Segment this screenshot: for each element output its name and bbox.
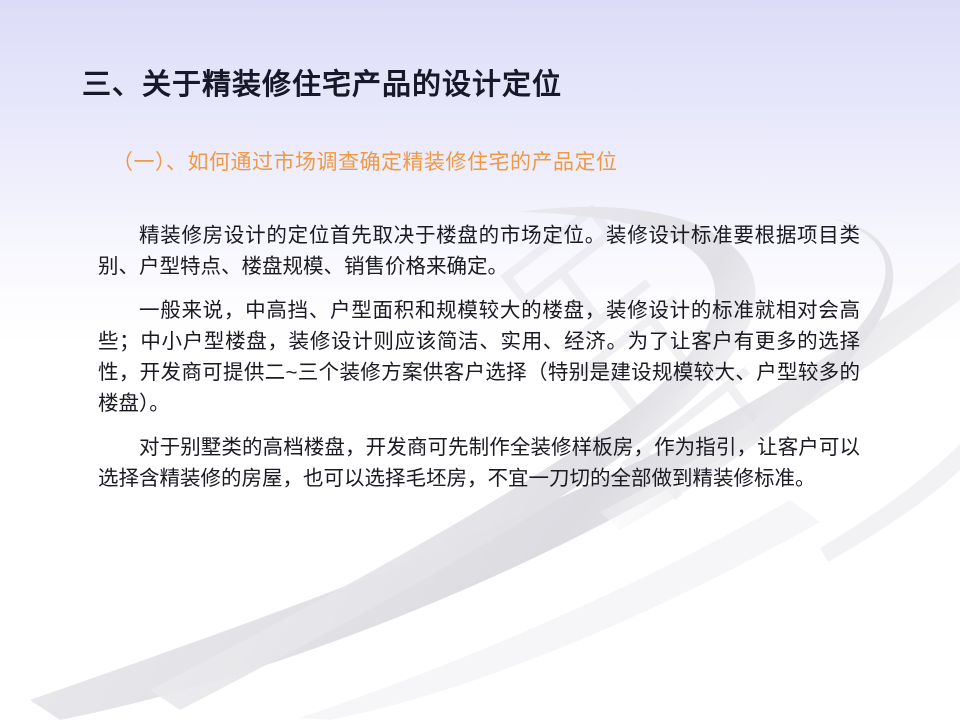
slide-canvas: 三、关于精装修住宅产品的设计定位 （一）、如何通过市场调查确定精装修住宅的产品定… (0, 0, 960, 720)
body-paragraph-3: 对于别墅类的高档楼盘，开发商可先制作全装修样板房，作为指引，让客户可以选择含精装… (98, 432, 860, 494)
section-subtitle: （一）、如何通过市场调查确定精装修住宅的产品定位 (112, 150, 618, 176)
body-paragraph-2: 一般来说，中高挡、户型面积和规模较大的楼盘，装修设计的标准就相对会高些；中小户型… (98, 295, 860, 419)
slide-content: 三、关于精装修住宅产品的设计定位 （一）、如何通过市场调查确定精装修住宅的产品定… (0, 0, 960, 720)
page-title: 三、关于精装修住宅产品的设计定位 (82, 68, 562, 103)
body-text-block: 精装修房设计的定位首先取决于楼盘的市场定位。装修设计标准要根据项目类别、户型特点… (98, 220, 860, 494)
body-paragraph-1: 精装修房设计的定位首先取决于楼盘的市场定位。装修设计标准要根据项目类别、户型特点… (98, 220, 860, 282)
